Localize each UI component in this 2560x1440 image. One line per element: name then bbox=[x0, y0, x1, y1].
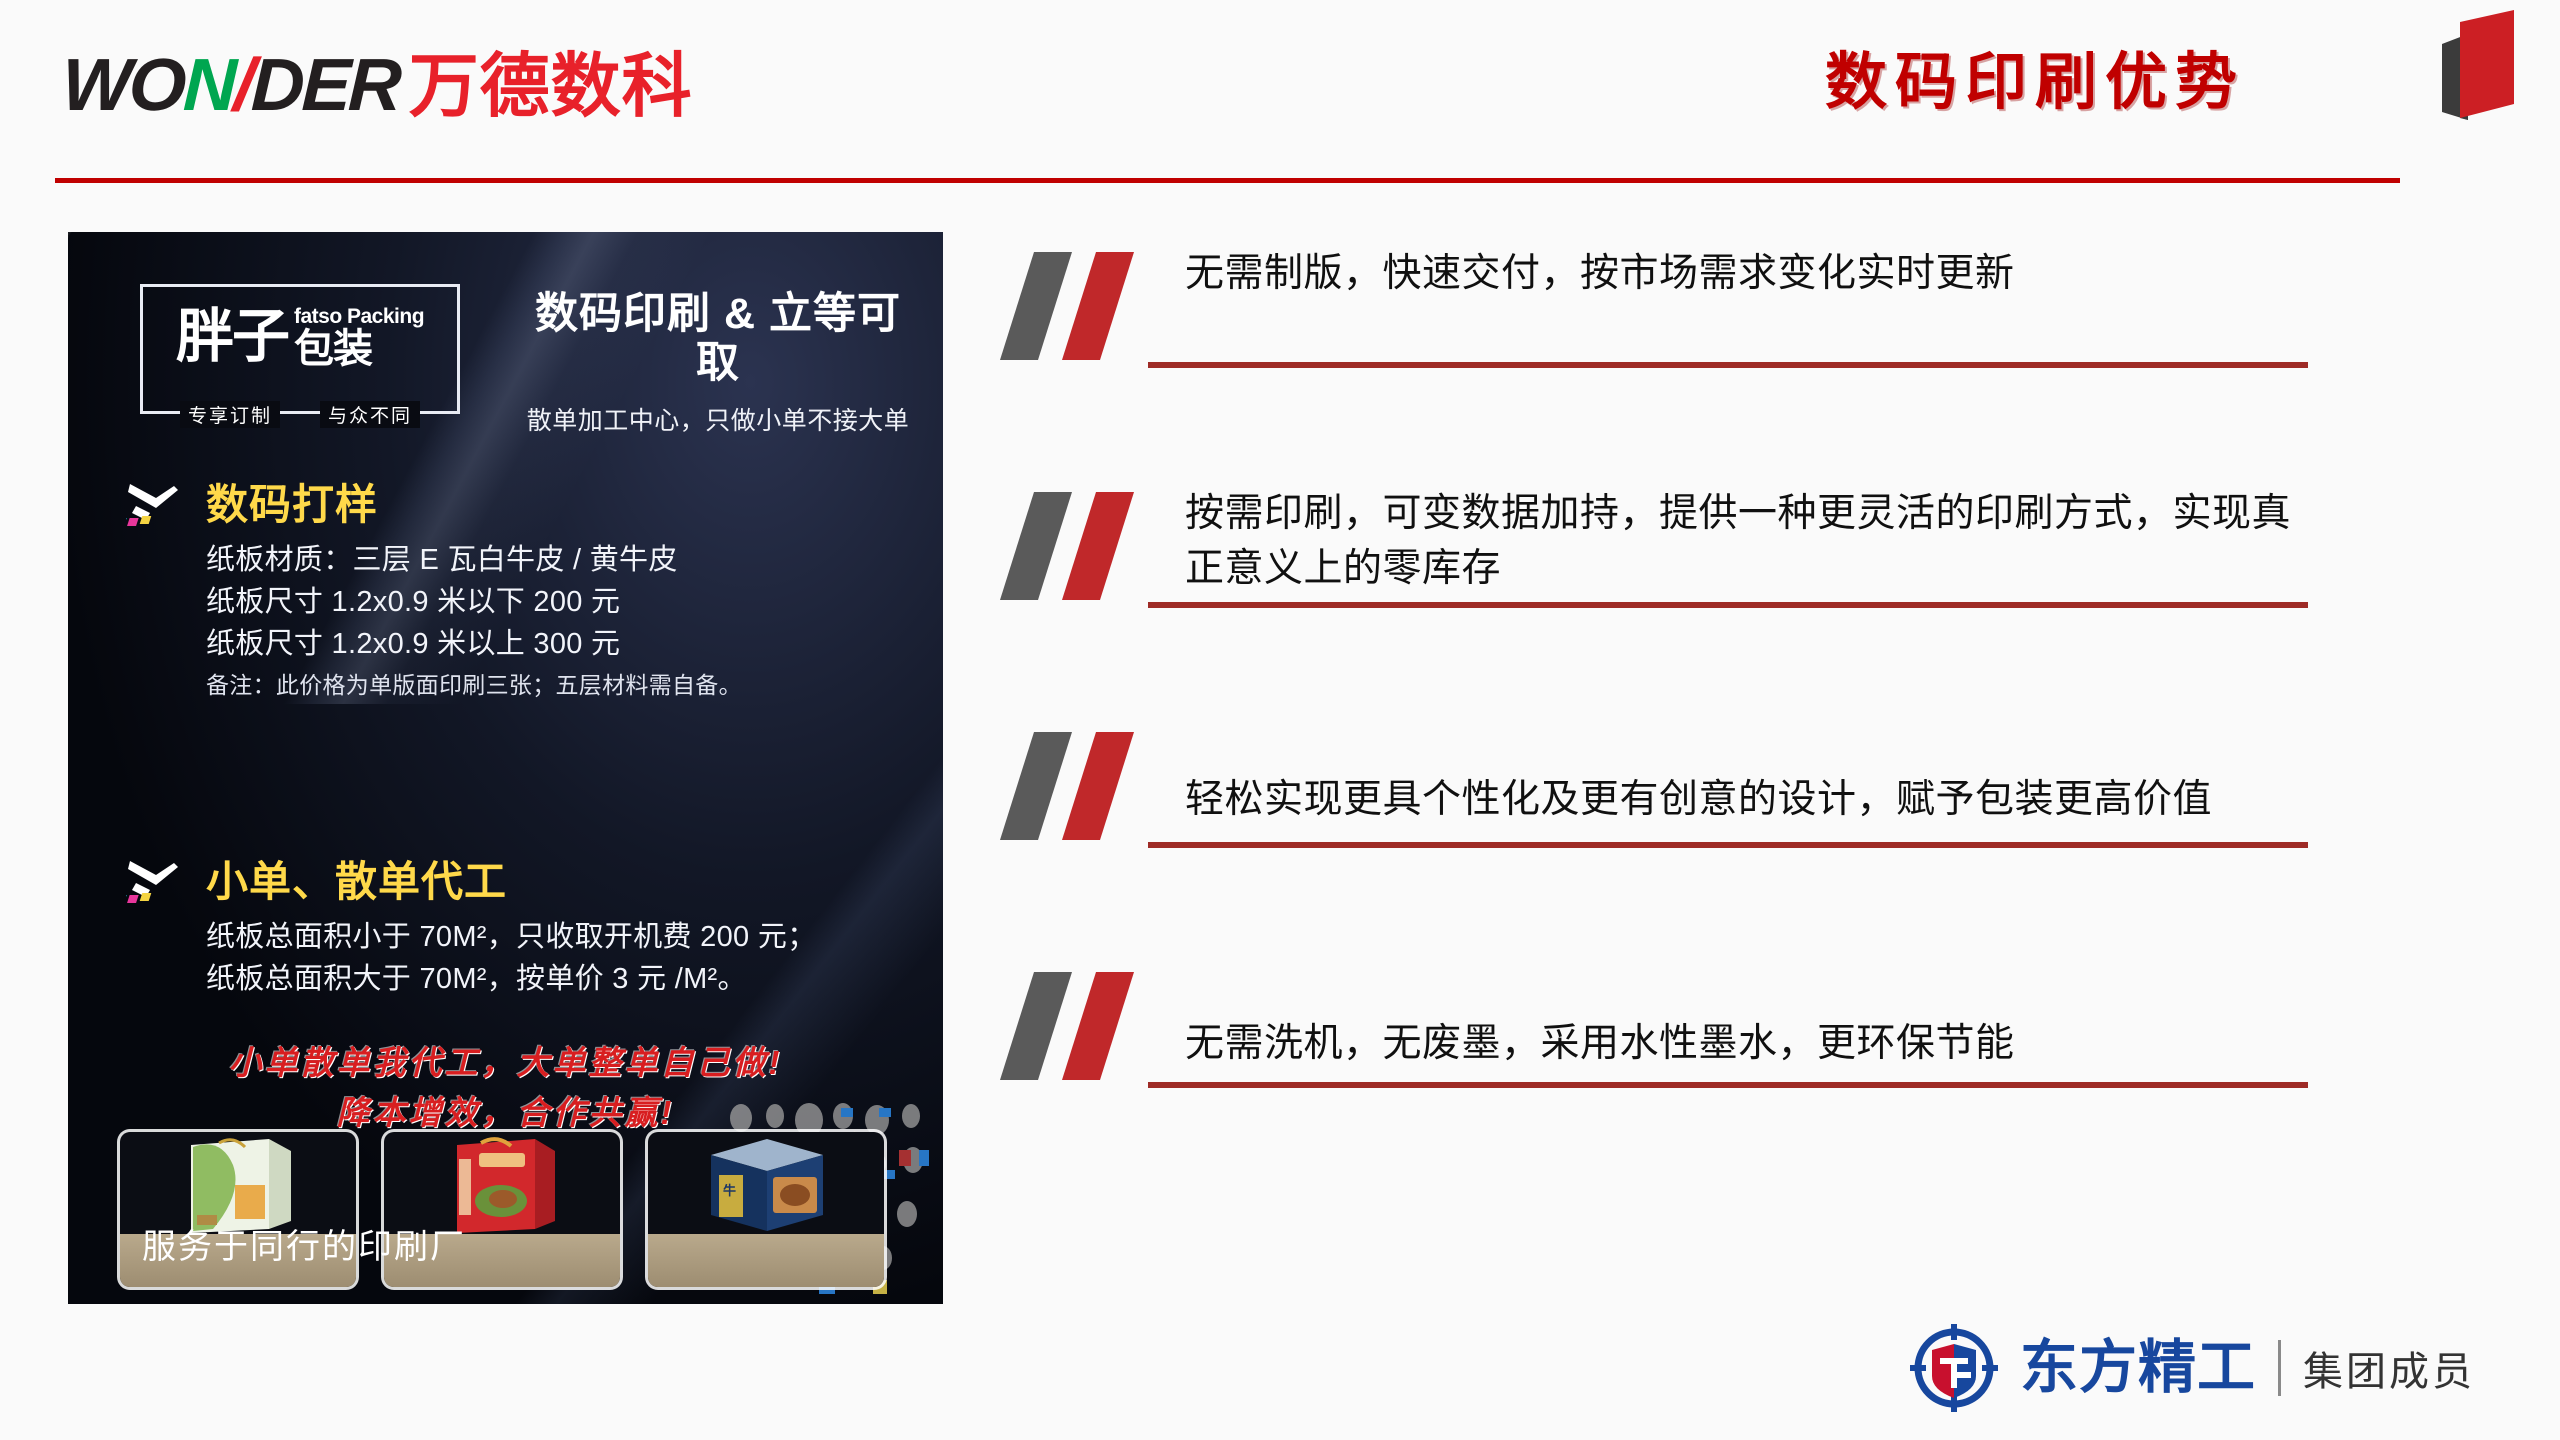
section-line: 纸板尺寸 1.2x0.9 米以上 300 元 bbox=[206, 624, 906, 666]
promo-poster: 胖子 fatso Packing 包装 专享订制 与众不同 数码印刷 & 立等可… bbox=[68, 232, 943, 1304]
section-line: 纸板总面积小于 70M²，只收取开机费 200 元； bbox=[206, 917, 906, 959]
fatso-brand-badge: 胖子 fatso Packing 包装 专享订制 与众不同 bbox=[140, 284, 460, 414]
footer-company-name: 东方精工 bbox=[2020, 1339, 2256, 1397]
brand-fatso-cn: 胖子 bbox=[176, 308, 288, 366]
footer-member-label: 集团成员 bbox=[2303, 1339, 2475, 1397]
advantage-item: 轻松实现更具个性化及更有创意的设计，赋予包装更高价值 bbox=[1000, 720, 2360, 960]
section-line: 纸板总面积大于 70M²，按单价 3 元 /M²。 bbox=[206, 959, 906, 1001]
section-line: 纸板尺寸 1.2x0.9 米以下 200 元 bbox=[206, 582, 906, 624]
footer-company-logo: 东方精工 集团成员 bbox=[1910, 1324, 2475, 1412]
wonder-logo-part-wo: WO bbox=[61, 48, 185, 122]
brand-tagline-left: 专享订制 bbox=[180, 401, 280, 428]
poster-section-digital-proofing: 数码打样 纸板材质：三层 E 瓦白牛皮 / 黄牛皮 纸板尺寸 1.2x0.9 米… bbox=[126, 480, 906, 702]
wonder-logo-english: WON/DER bbox=[61, 48, 400, 122]
wonder-logo-chinese: 万德数科 bbox=[409, 51, 693, 121]
header-divider bbox=[55, 178, 2400, 183]
slogan-line-2: 降本增效，合作共赢! bbox=[68, 1088, 943, 1138]
product-photo: 牛 bbox=[648, 1132, 884, 1287]
dongfang-jinggong-mark-icon bbox=[1910, 1324, 1998, 1412]
advantage-item: 按需印刷，可变数据加持，提供一种更灵活的印刷方式，实现真正意义上的零库存 bbox=[1000, 480, 2360, 720]
wonder-logo: WON/DER 万德数科 bbox=[62, 48, 693, 122]
beef-pie-carton-image: 牛 bbox=[697, 1132, 835, 1237]
footer-divider bbox=[2278, 1340, 2281, 1396]
poster-slogan: 小单散单我代工，大单整单自己做! 降本增效，合作共赢! bbox=[68, 1038, 943, 1137]
advantages-list: 无需制版，快速交付，按市场需求变化实时更新 按需印刷，可变数据加持，提供一种更灵… bbox=[1000, 240, 2360, 1200]
advantage-underline bbox=[1148, 602, 2308, 608]
advantage-text: 按需印刷，可变数据加持，提供一种更灵活的印刷方式，实现真正意义上的零库存 bbox=[1185, 486, 2305, 597]
poster-footer-text: 服务于同行的印刷厂 bbox=[142, 1219, 466, 1268]
chevron-arrow-icon bbox=[126, 857, 188, 907]
advantage-text: 无需洗机，无废墨，采用水性墨水，更环保节能 bbox=[1185, 1016, 2305, 1071]
section-note: 备注：此价格为单版面印刷三张；五层材料需自备。 bbox=[206, 669, 906, 702]
poster-headline-block: 数码印刷 & 立等可取 散单加工中心，只做小单不接大单 bbox=[518, 290, 918, 437]
double-chevron-icon bbox=[1000, 730, 1175, 842]
double-chevron-icon bbox=[1000, 490, 1175, 602]
wonder-logo-part-r: R bbox=[347, 48, 400, 122]
advantage-underline bbox=[1148, 362, 2308, 368]
brand-tagline-right: 与众不同 bbox=[320, 401, 420, 428]
page-title: 数码印刷优势 bbox=[1825, 52, 2245, 114]
advantage-item: 无需洗机，无废墨，采用水性墨水，更环保节能 bbox=[1000, 960, 2360, 1200]
advantage-item: 无需制版，快速交付，按市场需求变化实时更新 bbox=[1000, 240, 2360, 480]
corner-book-icon bbox=[2422, 8, 2532, 128]
product-photo-grid: 牛 bbox=[120, 1132, 910, 1304]
poster-section-small-order-oem: 小单、散单代工 纸板总面积小于 70M²，只收取开机费 200 元； 纸板总面积… bbox=[126, 857, 906, 1001]
wonder-logo-part-n: N bbox=[182, 48, 235, 122]
slogan-line-1: 小单散单我代工，大单整单自己做! bbox=[68, 1038, 943, 1088]
advantage-text: 无需制版，快速交付，按市场需求变化实时更新 bbox=[1185, 246, 2305, 301]
double-chevron-icon bbox=[1000, 970, 1175, 1082]
chevron-arrow-icon bbox=[126, 480, 188, 530]
svg-text:牛: 牛 bbox=[723, 1183, 736, 1198]
brand-packaging-cn: 包装 bbox=[294, 329, 372, 369]
page-header: WON/DER 万德数科 数码印刷优势 bbox=[0, 0, 2560, 190]
advantage-text: 轻松实现更具个性化及更有创意的设计，赋予包装更高价值 bbox=[1185, 772, 2305, 827]
wonder-logo-part-de: DE bbox=[250, 48, 349, 122]
advantage-underline bbox=[1148, 842, 2308, 848]
poster-subheadline: 散单加工中心，只做小单不接大单 bbox=[518, 401, 918, 437]
poster-headline: 数码印刷 & 立等可取 bbox=[518, 290, 918, 389]
section-title: 数码打样 bbox=[206, 484, 378, 526]
section-title: 小单、散单代工 bbox=[206, 861, 507, 903]
section-line: 纸板材质：三层 E 瓦白牛皮 / 黄牛皮 bbox=[206, 540, 906, 582]
advantage-underline bbox=[1148, 1082, 2308, 1088]
brand-fatso-en: fatso Packing bbox=[294, 306, 424, 327]
double-chevron-icon bbox=[1000, 250, 1175, 362]
